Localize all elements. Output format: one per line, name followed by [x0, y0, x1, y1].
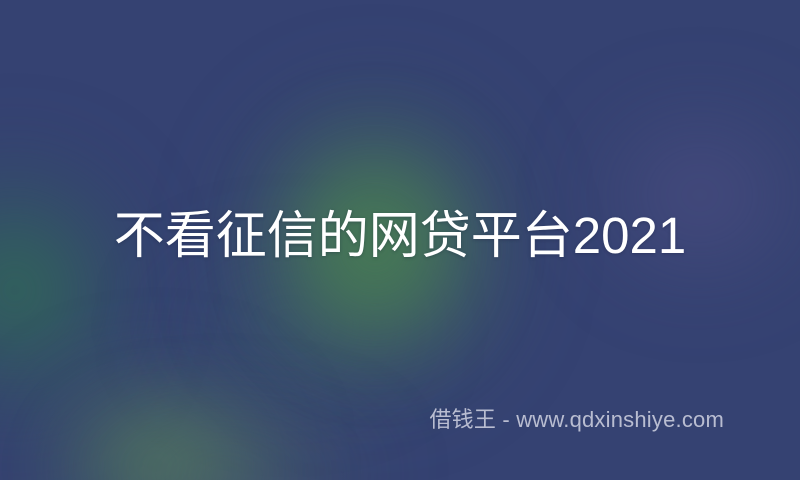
cover-headline: 不看征信的网贷平台2021 — [0, 206, 800, 266]
source-watermark: 借钱王 - www.qdxinshiye.com — [429, 406, 724, 434]
cover-image-canvas: 不看征信的网贷平台2021 借钱王 - www.qdxinshiye.com — [0, 0, 800, 480]
